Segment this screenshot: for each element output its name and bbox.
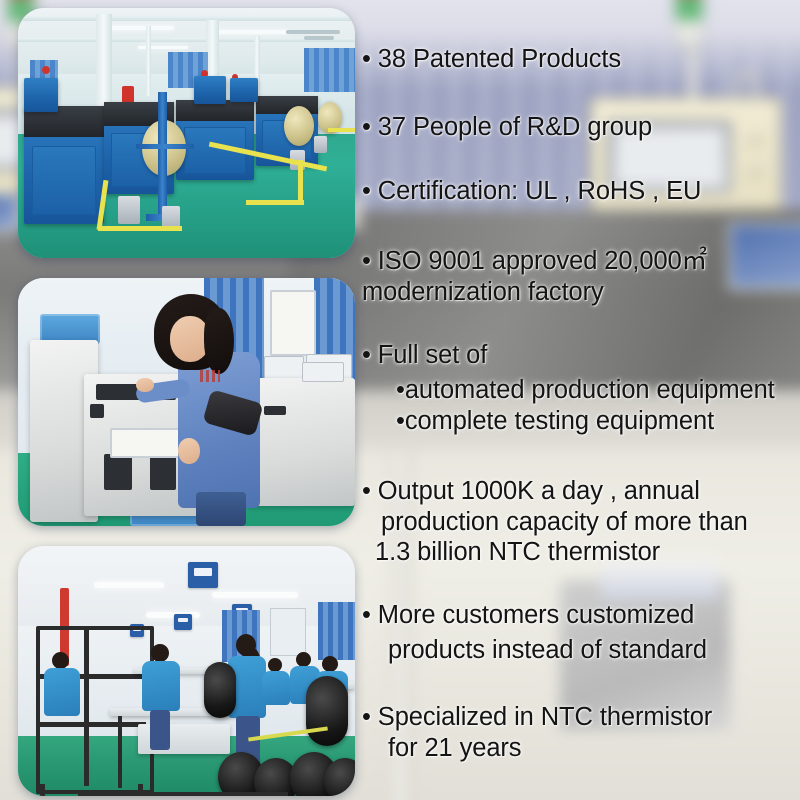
- rack-shelf: [36, 722, 146, 727]
- wall-curtain: [304, 48, 355, 92]
- bullet-specialized-line1: • Specialized in NTC thermistor: [362, 702, 800, 733]
- ceiling-fan-icon: [304, 36, 334, 40]
- ceiling-lamp: [212, 592, 298, 598]
- worker-hand: [178, 438, 200, 464]
- thread-spool: [314, 136, 327, 153]
- rack-leg: [40, 784, 45, 796]
- wall-panel: [270, 608, 306, 656]
- wall-curtain: [318, 602, 355, 660]
- table-leg: [118, 716, 122, 788]
- fire-alarm-icon: [42, 66, 50, 74]
- ceiling-beam: [18, 16, 355, 21]
- pillar: [146, 26, 151, 96]
- floor-rail: [78, 792, 288, 796]
- bullet-iso-factory-line2: modernization factory: [362, 277, 800, 308]
- bullet-output-line1: • Output 1000K a day , annual: [362, 476, 800, 507]
- coil-reel: [204, 662, 236, 718]
- production-machine: [176, 100, 254, 180]
- slide-root: • 38 Patented Products • 37 People of R&…: [0, 0, 800, 800]
- support-post-arm: [136, 144, 194, 149]
- bullet-patented-products: • 38 Patented Products: [362, 44, 800, 75]
- subbullet-automated-production: •automated production equipment: [362, 375, 800, 406]
- bullet-list: • 38 Patented Products • 37 People of R&…: [362, 0, 800, 800]
- bullet-rd-group: • 37 People of R&D group: [362, 112, 800, 143]
- bullet-iso-factory-line1: • ISO 9001 approved 20,000㎡: [362, 246, 800, 277]
- rack-post: [84, 626, 89, 786]
- bullet-output-line2: production capacity of more than: [362, 507, 800, 538]
- bullet-full-set: • Full set of: [362, 340, 800, 371]
- ceiling-lamp: [94, 582, 164, 588]
- ceiling-lamp: [108, 26, 174, 30]
- ceiling-fan-icon: [286, 30, 340, 34]
- bullet-customized-line2: products instead of standard: [362, 635, 800, 666]
- support-post: [158, 92, 167, 218]
- machine-part: [150, 456, 176, 490]
- bullet-output-line3: 1.3 billion NTC thermistor: [362, 537, 800, 568]
- worker-machine-photo: [18, 278, 355, 526]
- testing-machine: [246, 378, 355, 506]
- floor-marking: [298, 160, 303, 204]
- background-small-screen: [0, 192, 20, 232]
- subbullet-complete-testing: •complete testing equipment: [362, 406, 800, 437]
- machine-part: [104, 454, 132, 490]
- worker-hand: [136, 378, 154, 392]
- machine-display: [302, 362, 344, 382]
- bullet-specialized-line2: for 21 years: [362, 733, 800, 764]
- ceiling-lamp: [214, 30, 290, 34]
- notice-board: [270, 290, 316, 356]
- floor-marking: [328, 128, 355, 132]
- safety-sign: [188, 562, 218, 588]
- uniform-logo: [200, 370, 220, 382]
- floor-marking: [246, 200, 304, 205]
- production-machine: [230, 78, 258, 102]
- production-machine: [24, 106, 104, 224]
- worker-ponytail: [204, 308, 234, 374]
- bullet-certification: • Certification: UL , RoHS , EU: [362, 176, 800, 207]
- machine-part: [264, 406, 286, 415]
- bullet-customized-line1: • More customers customized: [362, 600, 800, 631]
- safety-sign: [174, 614, 192, 630]
- production-machine: [24, 78, 58, 112]
- wire-reel: [284, 106, 314, 146]
- production-line-photo: [18, 8, 355, 258]
- floor-marking: [98, 226, 182, 231]
- coil-reel: [306, 676, 348, 746]
- machine-part: [90, 404, 104, 418]
- thread-spool: [118, 196, 140, 224]
- assembly-line-photo: [18, 546, 355, 796]
- production-machine: [194, 76, 226, 104]
- worker-trousers: [196, 492, 246, 526]
